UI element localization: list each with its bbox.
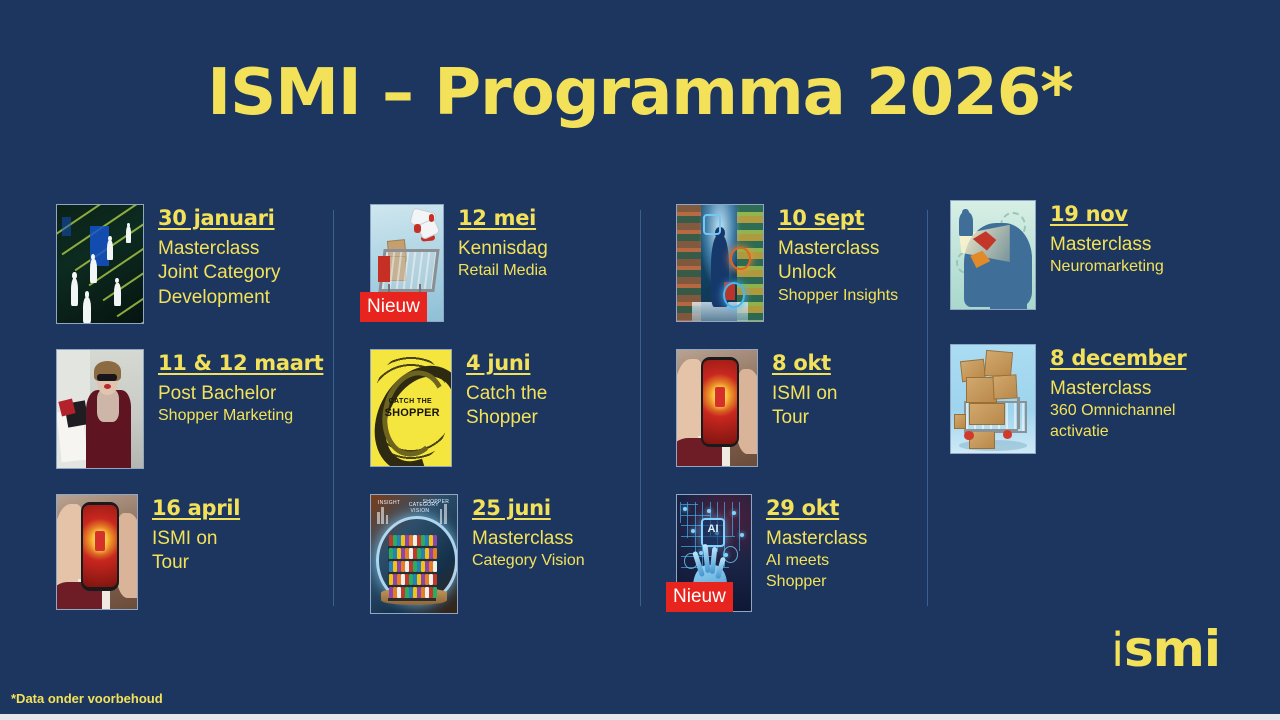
thumbnail-phone-burst — [56, 494, 138, 610]
footnote: *Data onder voorbehoud — [11, 691, 163, 706]
bottom-strip — [0, 714, 1280, 720]
thumbnail-catch-the-shopper-poster: CATCH THESHOPPER — [370, 349, 452, 467]
entry-text: 16 aprilISMI onTour — [152, 494, 240, 576]
programme-entry[interactable]: 11 & 12 maartPost BachelorShopper Market… — [56, 349, 323, 469]
page-title: ISMI – Programma 2026* — [0, 60, 1280, 127]
column-divider-3 — [927, 210, 928, 606]
thumbnail-category-vision: CATEGORY VISION INSIGHT SHOPPER — [370, 494, 458, 614]
entry-line-1: Masterclass — [766, 527, 867, 551]
thumbnail-phone-burst — [676, 349, 758, 467]
entry-line-1: Masterclass — [778, 237, 898, 261]
thumbnail-shopper-woman — [56, 349, 144, 469]
entry-text: 10 septMasterclassUnlockShopper Insights — [778, 204, 898, 307]
entry-line-3: activatie — [1050, 422, 1186, 443]
entry-date: 11 & 12 maart — [158, 351, 323, 375]
entry-date: 16 april — [152, 496, 240, 520]
entry-line-2: Tour — [152, 551, 240, 575]
entry-line-1: Masterclass — [1050, 233, 1164, 257]
thumbnail-store-aisle — [56, 204, 144, 324]
nieuw-badge: Nieuw — [360, 292, 427, 322]
thumbnail-neuromarketing-head — [950, 200, 1036, 310]
entry-date: 29 okt — [766, 496, 839, 520]
column-divider-1 — [333, 210, 334, 606]
thumbnail-shopper-insights — [676, 204, 764, 322]
nieuw-badge: Nieuw — [666, 582, 733, 612]
entry-text: 12 meiKennisdagRetail Media — [458, 204, 548, 282]
entry-line-1: ISMI on — [772, 382, 837, 406]
programme-entry[interactable]: 30 januariMasterclassJoint CategoryDevel… — [56, 204, 281, 324]
ismi-logo: ismi — [1111, 624, 1220, 674]
entry-date: 30 januari — [158, 206, 275, 230]
entry-text: 29 oktMasterclassAI meetsShopper — [766, 494, 867, 593]
logo-part-2: smi — [1124, 620, 1220, 678]
entry-date: 12 mei — [458, 206, 536, 230]
entry-text: 30 januariMasterclassJoint CategoryDevel… — [158, 204, 281, 310]
entry-text: 4 juniCatch theShopper — [466, 349, 547, 431]
entry-line-2: Retail Media — [458, 261, 548, 282]
entry-line-1: Masterclass — [1050, 377, 1186, 401]
programme-entry[interactable]: 10 septMasterclassUnlockShopper Insights — [676, 204, 898, 322]
entry-line-1: Masterclass — [472, 527, 585, 551]
entry-line-2: Joint Category — [158, 261, 281, 285]
entry-date: 4 juni — [466, 351, 530, 375]
entry-text: 25 juniMasterclassCategory Vision — [472, 494, 585, 572]
entry-line-2: Category Vision — [472, 551, 585, 572]
thumbnail-parcel-cart — [950, 344, 1036, 454]
entry-line-2: Neuromarketing — [1050, 257, 1164, 278]
entry-line-1: Post Bachelor — [158, 382, 323, 406]
entry-line-1: Kennisdag — [458, 237, 548, 261]
entry-line-3: Shopper Insights — [778, 286, 898, 307]
programme-entry[interactable]: 16 aprilISMI onTour — [56, 494, 240, 610]
entry-text: 8 decemberMasterclass360 Omnichannelacti… — [1050, 344, 1186, 443]
programme-grid: 30 januariMasterclassJoint CategoryDevel… — [0, 192, 1280, 612]
entry-date: 8 december — [1050, 346, 1186, 370]
entry-line-2: 360 Omnichannel — [1050, 401, 1186, 422]
slide: ISMI – Programma 2026* 30 januariMasterc… — [0, 0, 1280, 714]
programme-entry[interactable]: 19 novMasterclassNeuromarketing — [950, 200, 1164, 310]
entry-text: 11 & 12 maartPost BachelorShopper Market… — [158, 349, 323, 427]
programme-entry[interactable]: 8 decemberMasterclass360 Omnichannelacti… — [950, 344, 1186, 454]
entry-date: 8 okt — [772, 351, 831, 375]
column-divider-2 — [640, 210, 641, 606]
entry-line-2: AI meets — [766, 551, 867, 572]
logo-part-1: i — [1111, 623, 1124, 677]
entry-text: 19 novMasterclassNeuromarketing — [1050, 200, 1164, 278]
entry-date: 10 sept — [778, 206, 864, 230]
entry-line-2: Tour — [772, 406, 837, 430]
entry-line-1: Masterclass — [158, 237, 281, 261]
entry-line-3: Shopper — [766, 572, 867, 593]
programme-entry[interactable]: CATCH THESHOPPER4 juniCatch theShopper — [370, 349, 547, 467]
programme-entry[interactable]: Nieuw 12 meiKennisdagRetail Media — [370, 204, 548, 322]
entry-line-1: ISMI on — [152, 527, 240, 551]
entry-line-2: Unlock — [778, 261, 898, 285]
entry-line-2: Shopper — [466, 406, 547, 430]
entry-text: 8 oktISMI onTour — [772, 349, 837, 431]
entry-date: 25 juni — [472, 496, 551, 520]
programme-entry[interactable]: 8 oktISMI onTour — [676, 349, 837, 467]
entry-line-1: Catch the — [466, 382, 547, 406]
programme-entry[interactable]: NieuwAI 29 oktMasterclassAI meetsShopper — [676, 494, 867, 612]
entry-line-2: Shopper Marketing — [158, 406, 323, 427]
entry-line-3: Development — [158, 286, 281, 310]
entry-date: 19 nov — [1050, 202, 1128, 226]
programme-entry[interactable]: CATEGORY VISION INSIGHT SHOPPER25 juniMa… — [370, 494, 585, 614]
